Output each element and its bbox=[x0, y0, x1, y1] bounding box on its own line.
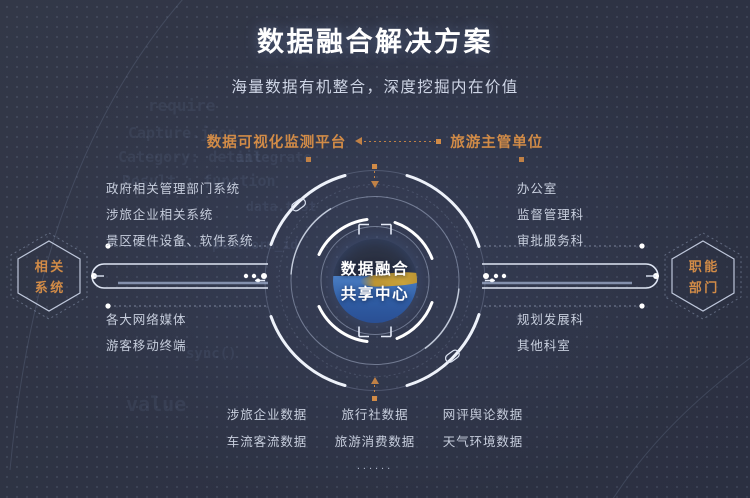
list-item[interactable]: 景区硬件设备、软件系统 bbox=[106, 228, 253, 254]
endpoint-square-icon bbox=[436, 139, 441, 144]
node-functional-departments[interactable]: 职能 部门 bbox=[662, 230, 744, 322]
list-item[interactable]: 其他科室 bbox=[517, 333, 584, 359]
arrow-up-to-hub bbox=[369, 377, 381, 401]
arrow-down-to-hub bbox=[369, 164, 381, 188]
label-tourism-authority[interactable]: 旅游主管单位 bbox=[450, 131, 543, 152]
dotted-line bbox=[364, 141, 435, 142]
left-bottom-source-list: 各大网络媒体 游客移动终端 bbox=[106, 307, 186, 359]
list-item[interactable]: 游客移动终端 bbox=[106, 333, 186, 359]
data-hub-sphere bbox=[333, 239, 417, 323]
right-top-department-list: 办公室 监督管理科 审批服务科 bbox=[517, 176, 584, 254]
page-subtitle: 海量数据有机整合，深度挖掘内在价值 bbox=[0, 75, 750, 97]
list-item[interactable]: 审批服务科 bbox=[517, 228, 584, 254]
data-cell[interactable]: 旅游消费数据 bbox=[321, 429, 429, 456]
arrow-left-icon bbox=[355, 137, 362, 145]
data-cell[interactable]: 天气环境数据 bbox=[429, 429, 537, 456]
tick-square-left-icon bbox=[306, 157, 311, 162]
hex-right-line-1: 职能 bbox=[686, 256, 720, 275]
list-item[interactable]: 办公室 bbox=[517, 176, 584, 202]
label-visualization-platform[interactable]: 数据可视化监测平台 bbox=[207, 131, 347, 152]
dotted-arrow-connector bbox=[355, 135, 441, 147]
data-cell[interactable]: 车流客流数据 bbox=[213, 429, 321, 456]
list-item[interactable]: 规划发展科 bbox=[517, 307, 584, 333]
hex-left-line-2: 系统 bbox=[32, 277, 66, 296]
list-item[interactable]: 监督管理科 bbox=[517, 202, 584, 228]
data-cell[interactable]: 涉旅企业数据 bbox=[213, 402, 321, 429]
infographic-canvas: require Capture.json Category: detail Re… bbox=[0, 0, 750, 498]
list-item[interactable]: 政府相关管理部门系统 bbox=[106, 176, 253, 202]
data-row-1: 涉旅企业数据 旅行社数据 网评舆论数据 bbox=[0, 402, 750, 429]
data-cell[interactable]: 旅行社数据 bbox=[321, 402, 429, 429]
page-title: 数据融合解决方案 bbox=[0, 20, 750, 59]
list-item[interactable]: 涉旅企业相关系统 bbox=[106, 202, 253, 228]
hex-right-label: 职能 部门 bbox=[662, 230, 744, 322]
triangle-down-icon bbox=[371, 181, 379, 188]
bottom-data-grid: 涉旅企业数据 旅行社数据 网评舆论数据 车流客流数据 旅游消费数据 天气环境数据… bbox=[0, 402, 750, 472]
hex-right-line-2: 部门 bbox=[686, 277, 720, 296]
data-cell[interactable]: 网评舆论数据 bbox=[429, 402, 537, 429]
top-label-row: 数据可视化监测平台 旅游主管单位 bbox=[0, 131, 750, 151]
triangle-up-icon bbox=[371, 377, 379, 384]
left-top-source-list: 政府相关管理部门系统 涉旅企业相关系统 景区硬件设备、软件系统 bbox=[106, 176, 253, 254]
data-row-2: 车流客流数据 旅游消费数据 天气环境数据 bbox=[0, 429, 750, 456]
arrow-down-dotted-line bbox=[374, 171, 375, 181]
hex-left-line-1: 相关 bbox=[32, 256, 66, 275]
header-block: 数据融合解决方案 海量数据有机整合，深度挖掘内在价值 bbox=[0, 20, 750, 97]
center-hub: 数据融合 共享中心 bbox=[255, 163, 495, 398]
arrow-up-dotted-line bbox=[374, 385, 375, 395]
data-ellipsis: ...... bbox=[0, 460, 750, 472]
arrow-down-square-icon bbox=[372, 164, 377, 169]
right-bottom-department-list: 规划发展科 其他科室 bbox=[517, 307, 584, 359]
tick-square-right-icon bbox=[519, 157, 524, 162]
arrow-up-square-icon bbox=[372, 396, 377, 401]
list-item[interactable]: 各大网络媒体 bbox=[106, 307, 186, 333]
